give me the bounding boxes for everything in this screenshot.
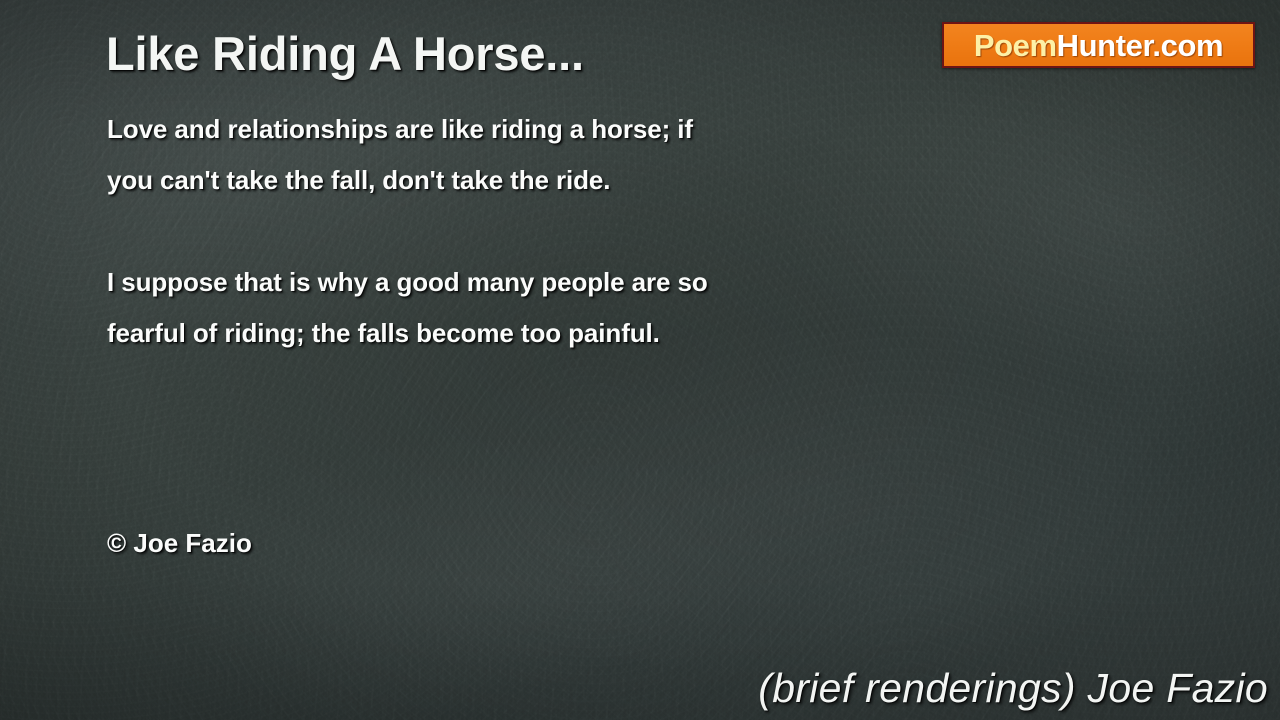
poem-line: I suppose that is why a good many people… [107,257,927,308]
poemhunter-logo-text: PoemHunter.com [974,30,1223,61]
poem-content: Like Riding A Horse... Love and relation… [0,0,1280,720]
logo-word-poem: Poem [974,28,1057,63]
poem-line: Love and relationships are like riding a… [107,104,927,155]
poem-title: Like Riding A Horse... [106,26,584,81]
poem-image-canvas: Like Riding A Horse... Love and relation… [0,0,1280,720]
poem-line: you can't take the fall, don't take the … [107,155,927,206]
poemhunter-logo-badge[interactable]: PoemHunter.com [942,22,1255,68]
poem-line-blank [107,206,927,257]
poem-body: Love and relationships are like riding a… [107,104,927,359]
author-signature: (brief renderings) Joe Fazio [758,665,1268,712]
copyright-credit: © Joe Fazio [107,528,252,559]
logo-word-hunter-com: Hunter.com [1057,28,1224,63]
poem-line: fearful of riding; the falls become too … [107,308,927,359]
